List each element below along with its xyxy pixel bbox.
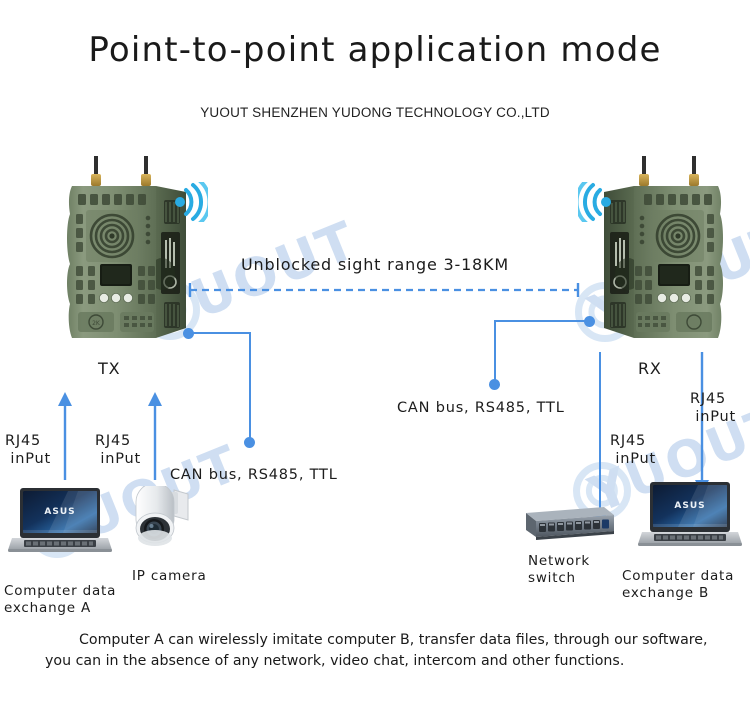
rx-label: RX [638,359,662,379]
network-switch[interactable] [518,503,616,553]
page-title: Point-to-point application mode [0,30,750,70]
rx-serial-line-h [494,320,589,322]
link-range-label: Unblocked sight range 3-18KM [0,255,750,275]
tx-serial-line-h [189,332,250,334]
wireless-transceiver-rx[interactable] [592,152,732,344]
laptop-a[interactable]: ASUS [8,486,112,558]
rx-switch-line [599,352,601,522]
svg-text:ASUS: ASUS [44,507,75,517]
right-rj45-switch-label: RJ45 inPut [610,432,656,468]
company-subtitle: YUOUT SHENZHEN YUDONG TECHNOLOGY CO.,LTD [0,105,750,120]
wifi-signal-rx-icon [578,182,612,226]
svg-text:ASUS: ASUS [674,501,705,511]
tx-label: TX [98,359,120,379]
network-switch-label: Network switch [528,553,590,587]
rx-serial-endpoint-dot [489,379,500,390]
diagram-canvas: YUOUT YUOUT YUOUT YUOUT Point-to-point a… [0,0,750,724]
right-serial-bus-label: CAN bus, RS485, TTL [397,399,565,417]
svg-text:2K: 2K [92,320,101,327]
wifi-signal-tx-icon [174,182,208,226]
footer-note: Computer A can wirelessly imitate comput… [45,630,715,671]
laptop-b[interactable]: ASUS [638,480,742,552]
laptop-b-label: Computer data exchange B [622,568,734,602]
control-buttons [99,293,132,302]
left-rj45-laptop-label: RJ45 inPut [5,432,51,468]
left-rj45-camera-label: RJ45 inPut [95,432,141,468]
ip-camera-label: IP camera [132,568,207,585]
rx-serial-line-v [494,320,496,384]
right-rj45-laptop-label: RJ45 inPut [690,390,736,426]
laptop-a-label: Computer data exchange A [4,583,116,617]
left-serial-bus-label: CAN bus, RS485, TTL [170,466,338,484]
tx-serial-line-v [249,332,251,442]
rj45-arrow-camera [145,392,165,480]
wireless-transceiver-tx[interactable]: 2K [58,152,198,344]
tx-serial-endpoint-dot [244,437,255,448]
ip-camera[interactable] [126,486,196,560]
rj45-arrow-laptop-a [55,392,75,480]
link-range-line [188,278,580,302]
